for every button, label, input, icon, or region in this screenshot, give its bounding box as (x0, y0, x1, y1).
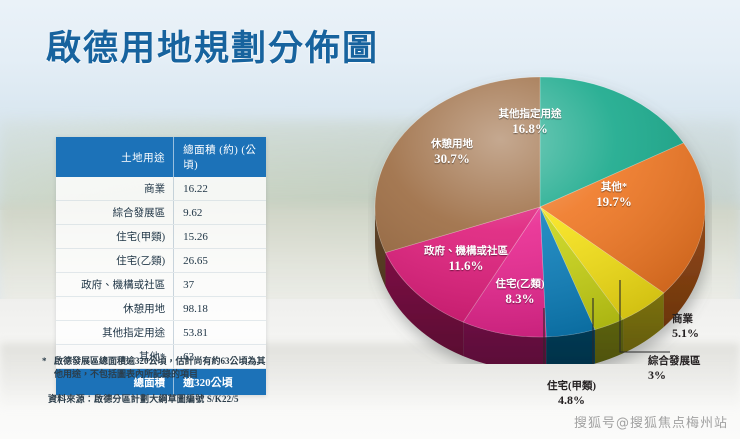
pie-chart (368, 52, 712, 364)
table-row: 住宅(乙類)26.65 (56, 249, 266, 273)
cell-total-area: 98.18 (174, 297, 266, 321)
pie-chart-svg (368, 52, 712, 364)
cell-total-area: 53.81 (174, 321, 266, 345)
cell-land-use: 商業 (56, 177, 174, 201)
cell-total-area: 9.62 (174, 201, 266, 225)
callout-label-value: 4.8% (547, 393, 596, 408)
callout-label-value: 3% (648, 368, 701, 383)
table-row: 其他指定用途53.81 (56, 321, 266, 345)
callout-label-name: 綜合發展區 (648, 355, 701, 368)
cell-total-area: 16.22 (174, 177, 266, 201)
footnote-text: 啟德發展區總面積逾320公頃，估計尚有約63公頃為其他用途，不包括圖表內所記錄的… (42, 355, 274, 381)
callout-comprehensive-development-area: 綜合發展區 3% (648, 355, 701, 383)
table-header-row: 土地用途 總面積 (約) (公頃) (56, 137, 266, 177)
page-title: 啟德用地規劃分佈圖 (46, 20, 379, 71)
column-header-total-area: 總面積 (約) (公頃) (174, 137, 266, 177)
table-row: 政府、機構或社區37 (56, 273, 266, 297)
cell-land-use: 政府、機構或社區 (56, 273, 174, 297)
callout-label-name: 住宅(甲類) (547, 380, 596, 393)
callout-label-value: 5.1% (672, 326, 699, 341)
footnote: * 啟德發展區總面積逾320公頃，估計尚有約63公頃為其他用途，不包括圖表內所記… (42, 355, 274, 381)
infographic-poster: 啟德用地規劃分佈圖 土地用途 總面積 (約) (公頃) 商業16.22綜合發展區… (0, 0, 740, 439)
cell-total-area: 26.65 (174, 249, 266, 273)
callout-residential-a: 住宅(甲類) 4.8% (547, 380, 596, 408)
table-row: 住宅(甲類)15.26 (56, 225, 266, 249)
cell-land-use: 住宅(甲類) (56, 225, 174, 249)
table-row: 休憩用地98.18 (56, 297, 266, 321)
table-row: 商業16.22 (56, 177, 266, 201)
source-note: 資料來源：啟德分區計劃大綱草圖編號 S/K22/5 (48, 392, 239, 405)
table-row: 綜合發展區9.62 (56, 201, 266, 225)
cell-land-use: 其他指定用途 (56, 321, 174, 345)
table-header: 土地用途 總面積 (約) (公頃) (56, 137, 266, 177)
cell-land-use: 休憩用地 (56, 297, 174, 321)
column-header-land-use: 土地用途 (56, 137, 174, 177)
cell-total-area: 37 (174, 273, 266, 297)
watermark: 搜狐号@搜狐焦点梅州站 (574, 412, 728, 431)
callout-label-name: 商業 (672, 313, 699, 326)
callout-commercial: 商業 5.1% (672, 313, 699, 341)
cell-land-use: 綜合發展區 (56, 201, 174, 225)
cell-total-area: 15.26 (174, 225, 266, 249)
footnote-star: * (42, 355, 47, 368)
cell-land-use: 住宅(乙類) (56, 249, 174, 273)
